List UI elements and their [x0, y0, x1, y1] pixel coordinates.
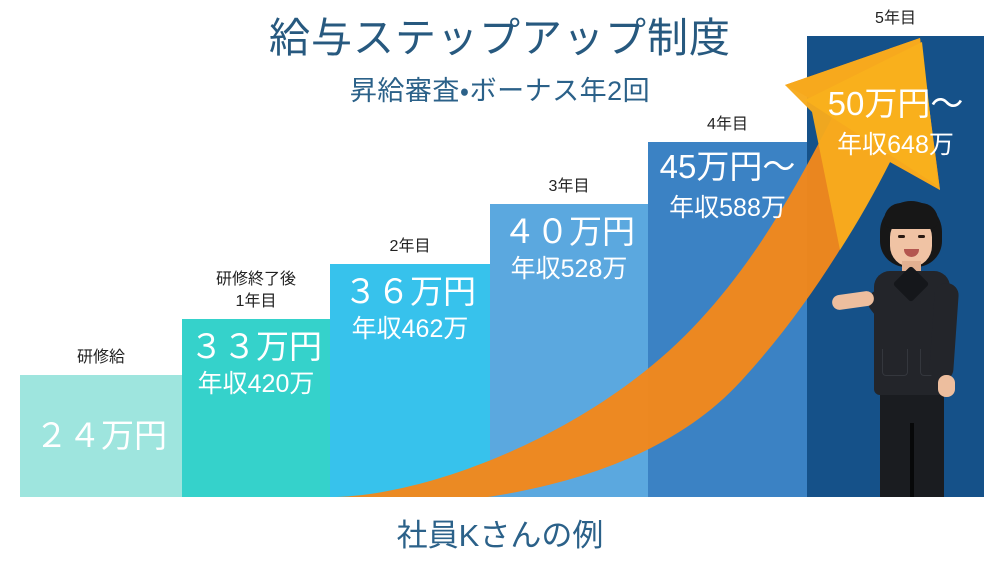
infographic-canvas: 研修給 ２４万円 研修終了後 1年目 ３３万円 年収420万 2年目 ３６万円 … — [0, 0, 1000, 563]
bar-body-3: ３６万円 年収462万 — [330, 264, 490, 497]
bar-label-4: 3年目 — [549, 176, 590, 197]
bar-amount-2: ３３万円 — [190, 328, 322, 367]
photo-left-hand — [831, 290, 875, 311]
bar-label-1-line1: 研修給 — [77, 347, 125, 368]
bar-annual-3: 年収462万 — [352, 314, 469, 344]
bar-amount-3: ３６万円 — [344, 273, 476, 312]
photo-eye-left — [898, 235, 905, 238]
bar-label-2-line1: 研修終了後 — [216, 269, 296, 290]
bar-annual-2: 年収420万 — [198, 369, 315, 399]
bar-step-3: 2年目 ３６万円 年収462万 — [330, 264, 490, 497]
bar-step-4: 3年目 ４０万円 年収528万 — [490, 204, 648, 497]
bar-body-5 — [648, 142, 807, 497]
bar-label-4-line1: 3年目 — [549, 176, 590, 197]
bar-label-2: 研修終了後 1年目 — [216, 269, 296, 312]
bar-label-1: 研修給 — [77, 347, 125, 368]
bar-annual-4: 年収528万 — [511, 254, 628, 284]
staff-photo — [836, 197, 984, 497]
photo-leg-split — [910, 423, 914, 497]
bar-step-5: 4年目 — [648, 142, 807, 497]
bar-label-2-line2: 1年目 — [216, 291, 296, 312]
bar-amount-4: ４０万円 — [503, 213, 635, 252]
bar-label-3-line1: 2年目 — [390, 236, 431, 257]
bar-body-1: ２４万円 — [20, 375, 182, 497]
bar-label-3: 2年目 — [390, 236, 431, 257]
page-title: 給与ステップアップ制度 — [0, 16, 1000, 62]
bar-step-2: 研修終了後 1年目 ３３万円 年収420万 — [182, 319, 330, 497]
photo-eye-right — [918, 235, 925, 238]
photo-pocket-left — [882, 349, 908, 376]
bar-step-1: 研修給 ２４万円 — [20, 375, 182, 497]
bar-amount-1: ２４万円 — [35, 417, 167, 456]
bar-label-5: 4年目 — [707, 114, 748, 135]
bar-label-5-line1: 4年目 — [707, 114, 748, 135]
photo-right-hand — [938, 375, 955, 397]
photo-fringe — [884, 203, 938, 229]
chart-caption: 社員Kさんの例 — [0, 510, 1000, 555]
page-subtitle: 昇給審査・ボーナス年2回 — [0, 76, 1000, 107]
bar-body-2: ３３万円 年収420万 — [182, 319, 330, 497]
bar-body-4: ４０万円 年収528万 — [490, 204, 648, 497]
